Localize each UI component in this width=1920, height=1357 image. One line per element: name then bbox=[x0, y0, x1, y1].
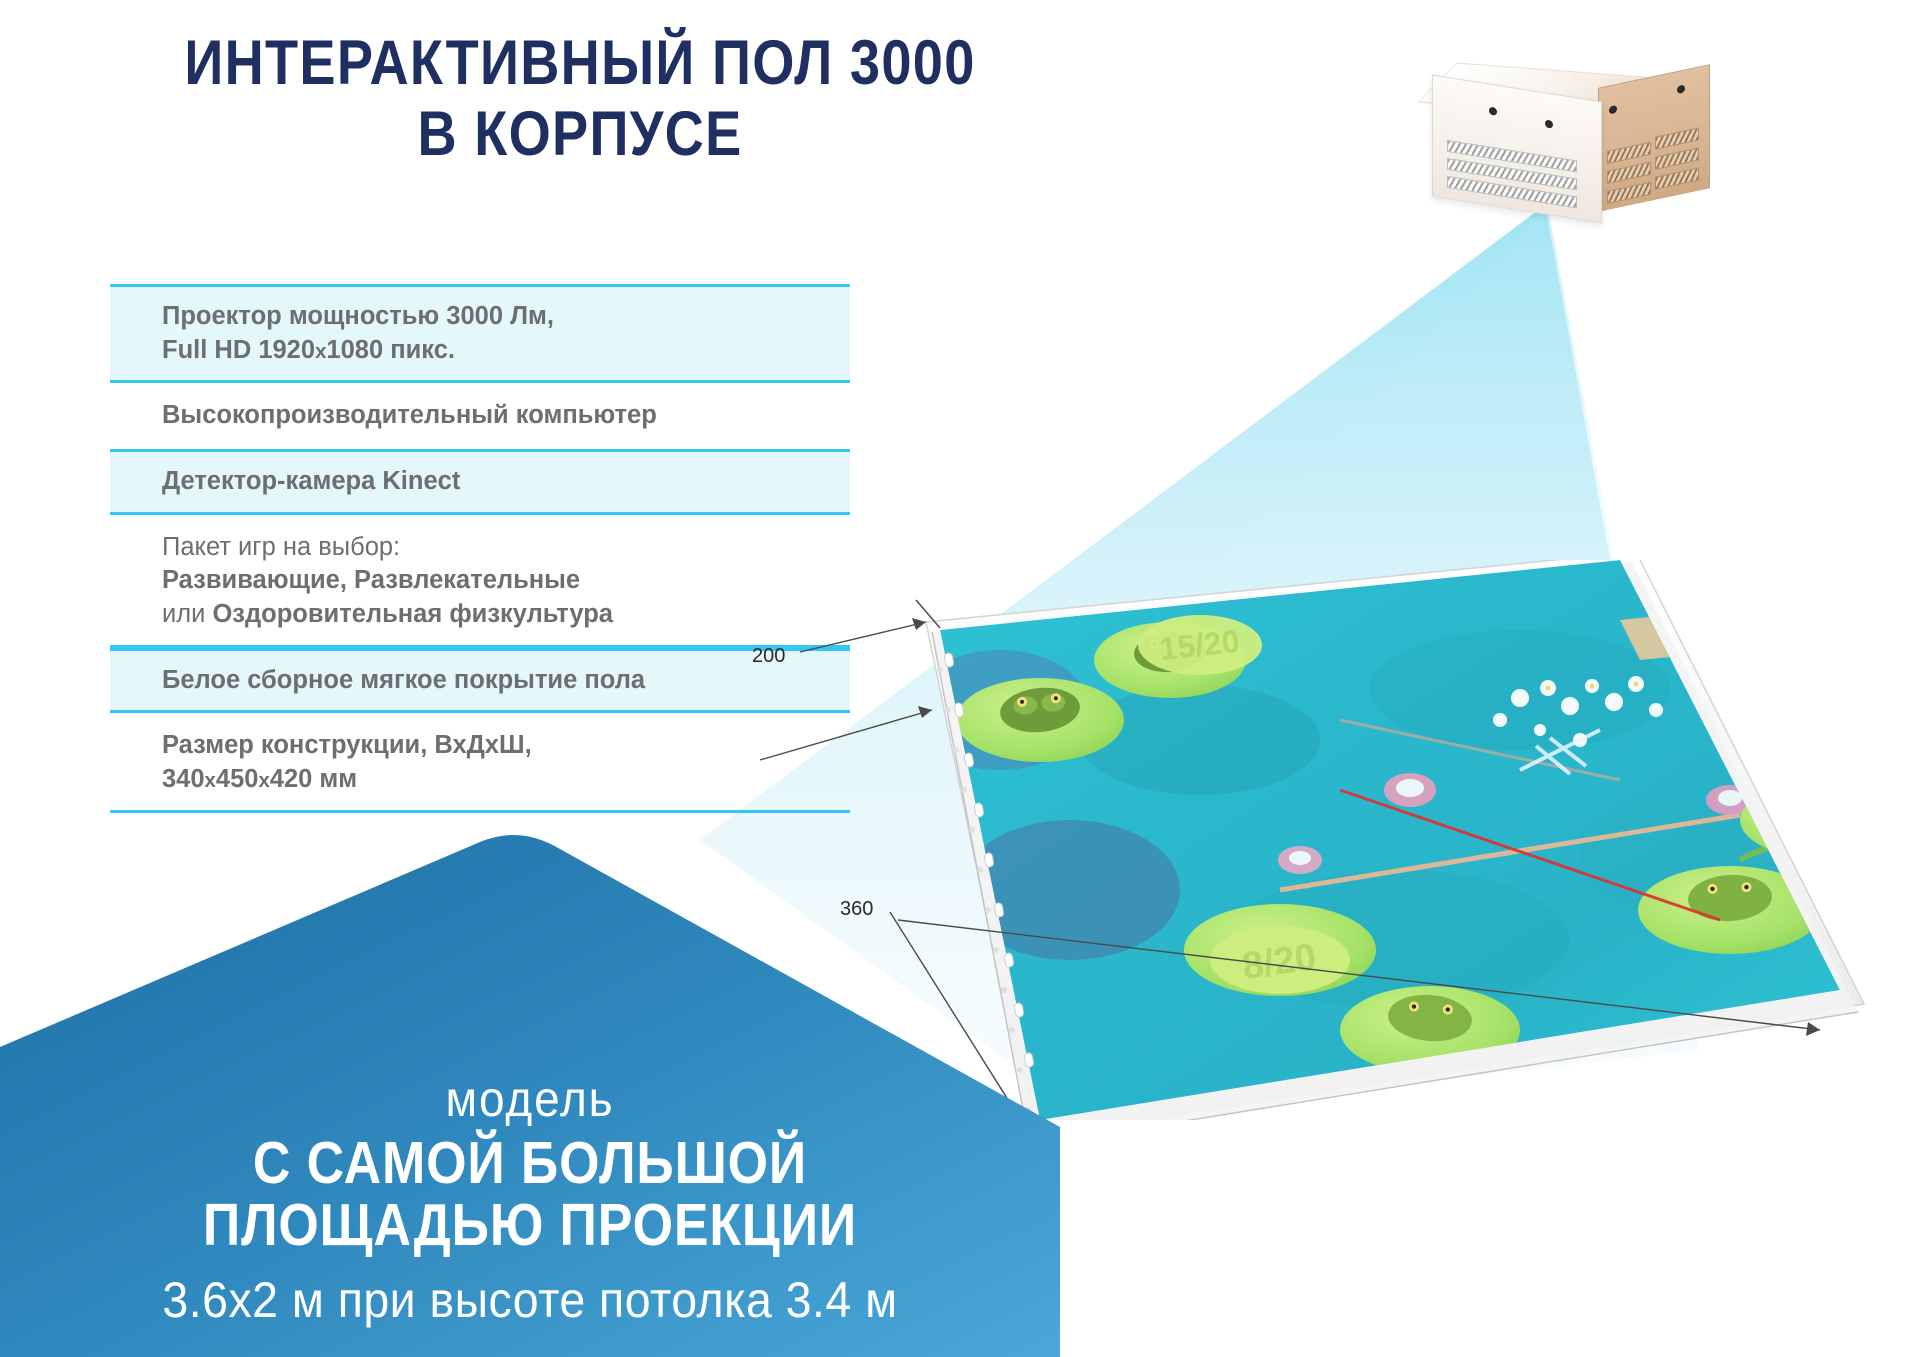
feature-line-part: Full HD 1920 bbox=[162, 336, 315, 364]
feature-row-projector: Проектор мощностью 3000 Лм, Full HD 1920… bbox=[110, 284, 850, 383]
device-front-face bbox=[1432, 75, 1602, 224]
feature-line-part: 340 bbox=[162, 765, 205, 793]
device-side-face bbox=[1598, 64, 1710, 212]
screw-icon bbox=[1609, 105, 1617, 115]
feature-line-sep: х bbox=[205, 770, 216, 792]
feature-line-sep: х bbox=[258, 770, 269, 792]
banner-headline: С САМОЙ БОЛЬШОЙ ПЛОЩАДЬЮ ПРОЕКЦИИ bbox=[64, 1132, 997, 1257]
feature-line-part: 450 bbox=[216, 765, 259, 793]
feature-row-kinect: Детектор-камера Kinect bbox=[110, 449, 850, 515]
vent-grille-icon bbox=[1655, 147, 1699, 169]
poster-canvas: ИНТЕРАКТИВНЫЙ ПОЛ 3000 В КОРПУСЕ Проекто… bbox=[0, 0, 1920, 1357]
feature-row-computer: Высокопроизводительный компьютер bbox=[110, 383, 850, 449]
vent-grille-icon bbox=[1655, 167, 1699, 189]
dimension-label-width: 200 bbox=[752, 645, 785, 668]
screw-icon bbox=[1545, 119, 1553, 128]
lily-pad bbox=[956, 678, 1124, 762]
banner-model-word: модель bbox=[42, 1070, 1017, 1128]
page-title: ИНТЕРАКТИВНЫЙ ПОЛ 3000 В КОРПУСЕ bbox=[81, 28, 1079, 169]
score-bubble-top: 15/20 bbox=[1138, 615, 1262, 675]
feature-line-part: Оздоровительная физкультура bbox=[212, 600, 613, 628]
screw-icon bbox=[1677, 84, 1685, 94]
feature-line-part: 420 мм bbox=[270, 765, 357, 793]
feature-line-prefix: или bbox=[162, 600, 212, 628]
feature-line: Full HD 1920х1080 пикс. bbox=[162, 334, 850, 368]
banner-subline: 3.6х2 м при высоте потолка 3.4 м bbox=[37, 1271, 1023, 1329]
feature-line: Проектор мощностью 3000 Лм, bbox=[162, 300, 850, 334]
screw-icon bbox=[1489, 107, 1497, 116]
feature-line-sep: х bbox=[315, 341, 326, 363]
vent-grille-icon bbox=[1655, 127, 1699, 149]
projector-enclosure-image bbox=[1420, 48, 1725, 248]
vent-grille-icon bbox=[1607, 142, 1651, 164]
promo-banner-text: модель С САМОЙ БОЛЬШОЙ ПЛОЩАДЬЮ ПРОЕКЦИИ… bbox=[0, 797, 1060, 1357]
feature-line-part: 1080 пикс. bbox=[326, 336, 455, 364]
vent-grille-icon bbox=[1607, 162, 1651, 184]
feature-line: Высокопроизводительный компьютер bbox=[162, 399, 850, 433]
vent-grille-icon bbox=[1607, 182, 1651, 204]
feature-line: Детектор-камера Kinect bbox=[162, 465, 850, 499]
